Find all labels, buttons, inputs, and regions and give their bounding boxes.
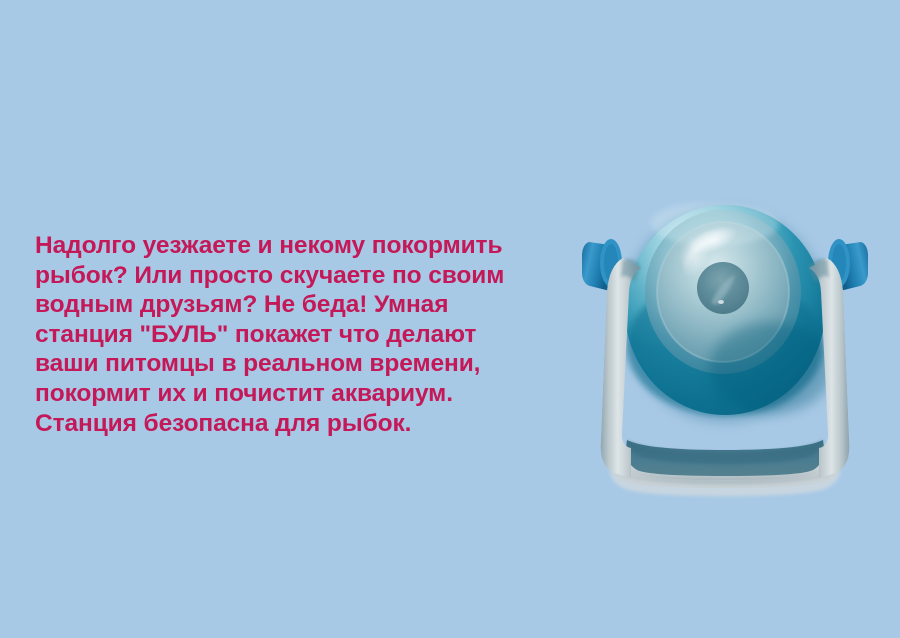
promo-text-block: Надолго уезжаете и некому покормить рыбо… [35,231,545,438]
promo-text-line: станция "БУЛЬ" покажет что делают [35,320,545,350]
camera-head [621,202,833,424]
promo-text-line: ваши питомцы в реальном времени, [35,349,545,379]
promo-text-line: Станция безопасна для рыбок. [35,409,545,439]
promo-text-line: покормит их и почистит аквариум. [35,379,545,409]
promo-text-line: Надолго уезжаете и некому покормить [35,231,545,261]
promo-text-line: рыбок? Или просто скучаете по своим [35,261,545,291]
poster-canvas: Надолго уезжаете и некому покормить рыбо… [0,0,900,638]
product-image-smart-station [565,140,885,530]
promo-text-line: водным друзьям? Не беда! Умная [35,290,545,320]
